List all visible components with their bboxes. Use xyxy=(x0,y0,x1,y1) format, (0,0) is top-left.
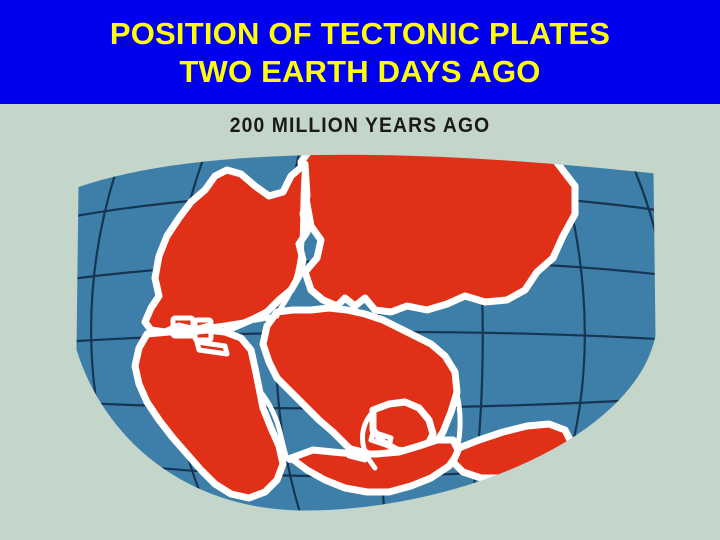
title-banner: POSITION OF TECTONIC PLATES TWO EARTH DA… xyxy=(0,0,720,104)
map-caption: 200 MILLION YEARS AGO xyxy=(29,114,691,138)
slide-root: POSITION OF TECTONIC PLATES TWO EARTH DA… xyxy=(0,0,720,540)
pangaea-map-image xyxy=(55,140,675,540)
pangaea-map-svg xyxy=(55,140,675,540)
title-line-2: TWO EARTH DAYS AGO xyxy=(179,53,540,91)
title-line-1: POSITION OF TECTONIC PLATES xyxy=(110,15,610,53)
figure-area: 200 MILLION YEARS AGO xyxy=(0,104,720,540)
